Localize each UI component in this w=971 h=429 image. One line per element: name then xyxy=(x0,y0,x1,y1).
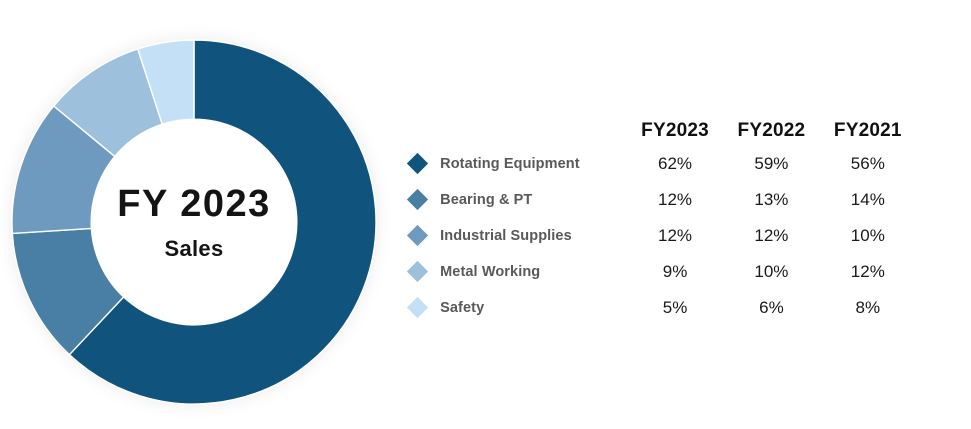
value-fy2022: 10% xyxy=(723,254,819,290)
legend-diamond-icon xyxy=(407,189,428,210)
legend-marker-cell xyxy=(406,254,440,290)
table-row: Industrial Supplies12%12%10% xyxy=(406,218,916,254)
mix-table: FY2023 FY2022 FY2021 Rotating Equipment6… xyxy=(406,104,916,326)
value-fy2021: 56% xyxy=(820,146,916,182)
header-fy2022: FY2022 xyxy=(723,104,819,146)
legend-diamond-icon xyxy=(407,153,428,174)
segment-label: Industrial Supplies xyxy=(440,218,627,254)
value-fy2023: 12% xyxy=(627,182,723,218)
value-fy2022: 59% xyxy=(723,146,819,182)
header-fy2023: FY2023 xyxy=(627,104,723,146)
table-row: Rotating Equipment62%59%56% xyxy=(406,146,916,182)
segment-label: Bearing & PT xyxy=(440,182,627,218)
header-fy2021: FY2021 xyxy=(820,104,916,146)
value-fy2023: 9% xyxy=(627,254,723,290)
value-fy2023: 12% xyxy=(627,218,723,254)
value-fy2022: 13% xyxy=(723,182,819,218)
legend-diamond-icon xyxy=(407,297,428,318)
table-header: FY2023 FY2022 FY2021 xyxy=(406,104,916,146)
value-fy2022: 6% xyxy=(723,290,819,326)
value-fy2021: 8% xyxy=(820,290,916,326)
donut-svg xyxy=(8,36,380,408)
chart-canvas: FY 2023 Sales FY2023 FY2022 FY2021 Rotat… xyxy=(0,0,971,429)
legend-diamond-icon xyxy=(407,225,428,246)
sales-mix-table: FY2023 FY2022 FY2021 Rotating Equipment6… xyxy=(406,104,916,326)
donut-slice-group xyxy=(12,40,376,404)
legend-marker-cell xyxy=(406,290,440,326)
table-row: Bearing & PT12%13%14% xyxy=(406,182,916,218)
segment-label: Metal Working xyxy=(440,254,627,290)
value-fy2021: 14% xyxy=(820,182,916,218)
header-segment xyxy=(440,104,627,146)
table-row: Metal Working9%10%12% xyxy=(406,254,916,290)
header-marker xyxy=(406,104,440,146)
table-row: Safety5%6%8% xyxy=(406,290,916,326)
legend-marker-cell xyxy=(406,218,440,254)
value-fy2021: 10% xyxy=(820,218,916,254)
segment-label: Rotating Equipment xyxy=(440,146,627,182)
table-body: Rotating Equipment62%59%56%Bearing & PT1… xyxy=(406,146,916,326)
value-fy2022: 12% xyxy=(723,218,819,254)
table-header-row: FY2023 FY2022 FY2021 xyxy=(406,104,916,146)
value-fy2021: 12% xyxy=(820,254,916,290)
legend-marker-cell xyxy=(406,146,440,182)
legend-marker-cell xyxy=(406,182,440,218)
donut-chart: FY 2023 Sales xyxy=(8,36,380,408)
segment-label: Safety xyxy=(440,290,627,326)
value-fy2023: 5% xyxy=(627,290,723,326)
value-fy2023: 62% xyxy=(627,146,723,182)
legend-diamond-icon xyxy=(407,261,428,282)
